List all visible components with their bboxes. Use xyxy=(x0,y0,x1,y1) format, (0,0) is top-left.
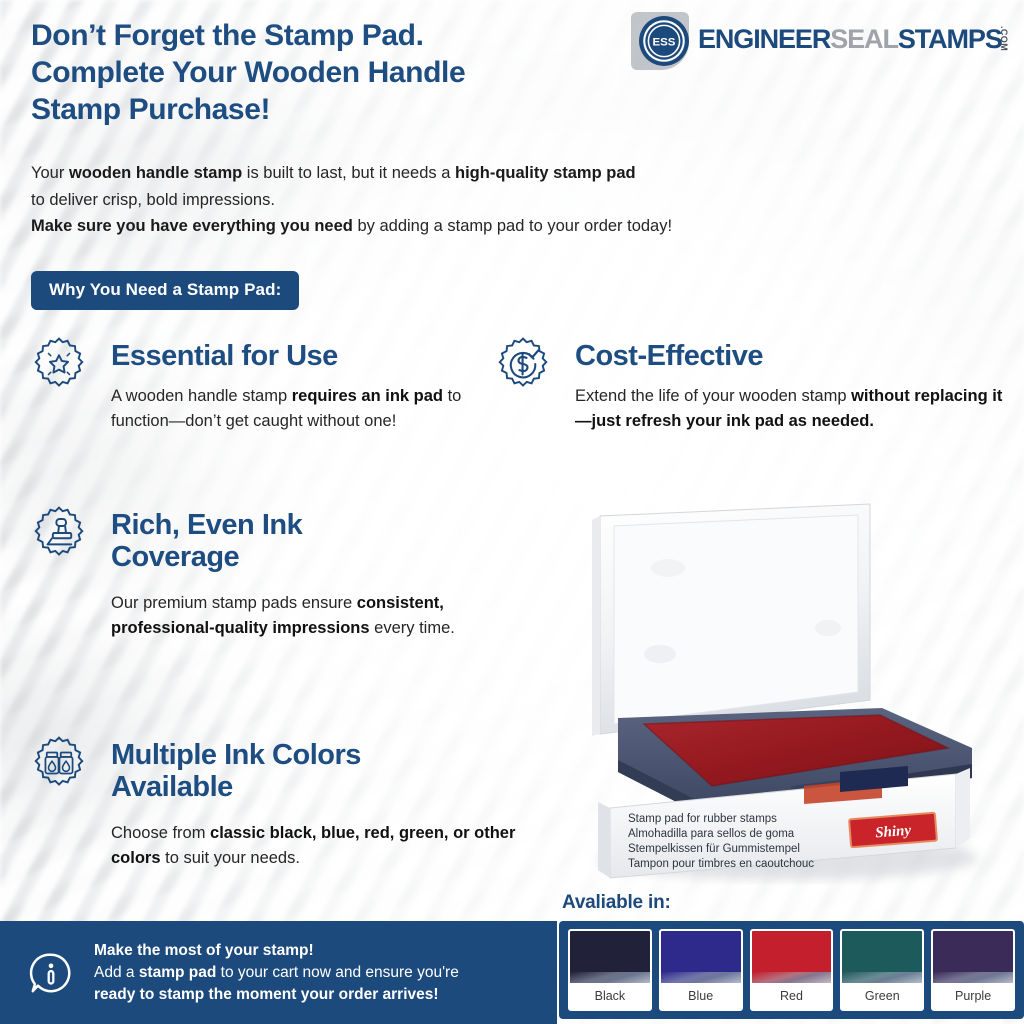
intro-l1b: wooden handle stamp xyxy=(69,164,242,182)
brand-logo[interactable]: ESS ENGINEERSEALSTAMPS .COM xyxy=(631,12,1016,70)
box-line-4: Tampon pour timbres en caoutchouc xyxy=(628,858,814,870)
available-in-label: Avaliable in: xyxy=(562,892,671,914)
swatch-color-chip xyxy=(661,931,741,983)
logo-wordmark: ENGINEERSEALSTAMPS xyxy=(698,24,1002,55)
header: Don’t Forget the Stamp Pad. Complete You… xyxy=(0,0,1024,150)
swatch-label: Green xyxy=(842,983,922,1009)
star-badge-icon xyxy=(31,336,87,392)
feature-body-c: to suit your needs. xyxy=(161,849,300,867)
feature-title-line-2: Available xyxy=(111,771,233,803)
intro-l3b: by adding a stamp pad to your order toda… xyxy=(353,217,672,235)
info-bubble-icon xyxy=(28,950,74,996)
feature-title-line-1: Multiple Ink Colors xyxy=(111,739,361,771)
swatch-label: Blue xyxy=(661,983,741,1009)
intro-l3a: Make sure you have everything you need xyxy=(31,217,353,235)
feature-body-a: Choose from xyxy=(111,824,210,842)
promo-page: Don’t Forget the Stamp Pad. Complete You… xyxy=(0,0,1024,1024)
rubber-stamp-badge-icon xyxy=(31,505,87,561)
logo-word-engineer: ENGINEER xyxy=(698,24,830,54)
cta-line-2c: to your cart now and ensure you're xyxy=(216,964,458,981)
page-title: Don’t Forget the Stamp Pad. Complete You… xyxy=(31,18,651,129)
cta-line-3: ready to stamp the moment your order arr… xyxy=(94,984,459,1006)
swatch-blue[interactable]: Blue xyxy=(659,929,743,1011)
swatch-color-chip xyxy=(842,931,922,983)
feature-title-line-1: Rich, Even Ink xyxy=(111,509,302,541)
swatch-black[interactable]: Black xyxy=(568,929,652,1011)
feature-body: A wooden handle stamp requires an ink pa… xyxy=(111,384,501,434)
feature-body-a: Our premium stamp pads ensure xyxy=(111,594,357,612)
cta-line-2: Add a stamp pad to your cart now and ens… xyxy=(94,962,459,984)
feature-body-a: A wooden handle stamp xyxy=(111,387,292,405)
intro-l2: to deliver crisp, bold impressions. xyxy=(31,191,275,209)
section-badge: Why You Need a Stamp Pad: xyxy=(31,271,299,310)
intro-l1a: Your xyxy=(31,164,69,182)
logo-tld: .COM xyxy=(999,26,1009,51)
cta-line-2b: stamp pad xyxy=(139,964,217,981)
feature-title: Multiple Ink ColorsAvailable xyxy=(111,739,531,804)
feature-title: Essential for Use xyxy=(111,340,471,372)
dollar-check-badge-icon xyxy=(495,336,551,392)
feature-title-line-2: Coverage xyxy=(111,541,239,573)
box-line-1: Stamp pad for rubber stamps xyxy=(628,813,777,825)
ess-gear-icon: ESS xyxy=(638,15,690,67)
headline-line-1: Don’t Forget the Stamp Pad. xyxy=(31,18,651,55)
logo-word-stamps: STAMPS xyxy=(898,24,1002,54)
swatch-label: Black xyxy=(570,983,650,1009)
headline-line-2: Complete Your Wooden Handle xyxy=(31,55,651,92)
swatch-label: Purple xyxy=(933,983,1013,1009)
product-photo-stamp-pad: Stamp pad for rubber stamps Almohadilla … xyxy=(552,486,1024,896)
feature-body-a: Extend the life of your wooden stamp xyxy=(575,387,851,405)
swatch-purple[interactable]: Purple xyxy=(931,929,1015,1011)
box-line-3: Stempelkissen für Gummistempel xyxy=(628,843,800,855)
feature-body-b: requires an ink pad xyxy=(292,387,443,405)
shiny-brand-label: Shiny xyxy=(875,823,912,842)
swatch-green[interactable]: Green xyxy=(840,929,924,1011)
cta-line-2a: Add a xyxy=(94,964,139,981)
cta-line-1: Make the most of your stamp! xyxy=(94,940,459,962)
swatch-red[interactable]: Red xyxy=(750,929,834,1011)
swatch-label: Red xyxy=(752,983,832,1009)
headline-line-3: Stamp Purchase! xyxy=(31,92,651,129)
feature-title: Rich, Even InkCoverage xyxy=(111,509,471,574)
feature-body: Our premium stamp pads ensure consistent… xyxy=(111,591,491,641)
cta-bar: Make the most of your stamp! Add a stamp… xyxy=(0,921,557,1024)
logo-word-seal: SEAL xyxy=(830,24,898,54)
box-line-2: Almohadilla para sellos de goma xyxy=(628,828,795,840)
feature-body: Choose from classic black, blue, red, gr… xyxy=(111,821,551,871)
ink-bottles-badge-icon xyxy=(31,735,87,791)
swatch-color-chip xyxy=(570,931,650,983)
color-swatch-panel: Black Blue Red Green Purple xyxy=(559,921,1024,1019)
swatch-color-chip xyxy=(752,931,832,983)
feature-body: Extend the life of your wooden stamp wit… xyxy=(575,384,1015,434)
feature-body-c: every time. xyxy=(370,619,455,637)
intro-paragraph: Your wooden handle stamp is built to las… xyxy=(31,160,911,240)
swatch-color-chip xyxy=(933,931,1013,983)
intro-l1d: high-quality stamp pad xyxy=(455,164,636,182)
feature-title: Cost-Effective xyxy=(575,340,1005,372)
cta-text: Make the most of your stamp! Add a stamp… xyxy=(94,940,459,1006)
intro-l1c: is built to last, but it needs a xyxy=(242,164,455,182)
svg-text:ESS: ESS xyxy=(653,37,676,49)
